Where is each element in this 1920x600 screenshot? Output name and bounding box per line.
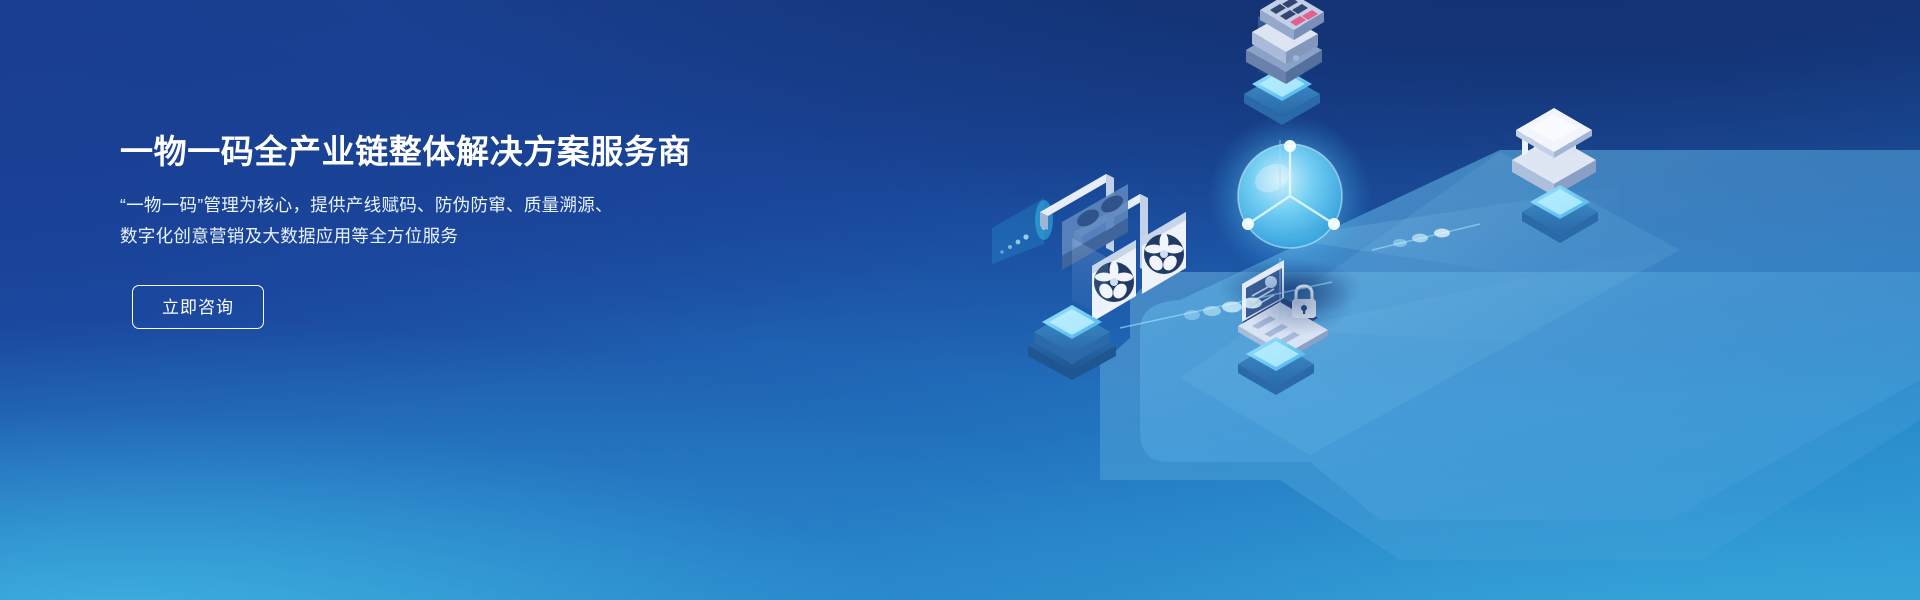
- consult-now-button[interactable]: 立即咨询: [132, 285, 264, 329]
- hero-subtitle: “一物一码”管理为核心，提供产线赋码、防伪防窜、质量溯源、 数字化创意营销及大数…: [120, 190, 840, 252]
- subtitle-line-1: “一物一码”管理为核心，提供产线赋码、防伪防窜、质量溯源、: [120, 190, 840, 221]
- hero-copy: 一物一码全产业链整体解决方案服务商 “一物一码”管理为核心，提供产线赋码、防伪防…: [120, 132, 840, 329]
- hero-banner: 一物一码全产业链整体解决方案服务商 “一物一码”管理为核心，提供产线赋码、防伪防…: [0, 0, 1920, 600]
- subtitle-line-2: 数字化创意营销及大数据应用等全方位服务: [120, 221, 840, 252]
- page-title: 一物一码全产业链整体解决方案服务商: [120, 132, 840, 172]
